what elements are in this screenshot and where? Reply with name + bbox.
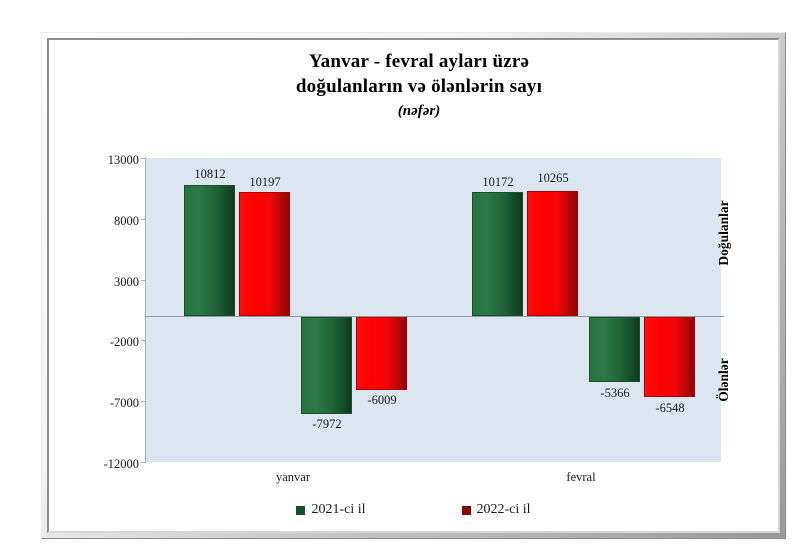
chart-title-line-1: Yanvar - fevral ayları üzrə <box>139 49 699 74</box>
y-tick-label-neg7000: -7000 <box>110 397 139 409</box>
chart-canvas: Yanvar - fevral ayları üzrə doğulanların… <box>49 40 778 531</box>
bar-label-fevral-2021-deaths: -5366 <box>581 386 649 400</box>
side-label-deaths: Ölənlər <box>679 372 769 388</box>
y-tick-13000 <box>141 158 146 159</box>
legend-item-2021[interactable]: 2021-ci il <box>296 502 365 518</box>
y-tick-label-8000: 8000 <box>114 215 139 227</box>
bar-label-fevral-2022-births: 10265 <box>519 171 587 185</box>
y-tick-label-13000: 13000 <box>108 154 139 166</box>
x-category-label-fevral: fevral <box>533 470 629 485</box>
y-axis-labels: 13000 8000 3000 -2000 -7000 -12000 <box>61 158 139 462</box>
bar-fevral-2021-deaths[interactable] <box>589 317 640 382</box>
y-tick-neg7000 <box>141 401 146 402</box>
bar-label-yanvar-2022-deaths: -6009 <box>348 393 416 407</box>
legend-label-2021: 2021-ci il <box>311 502 365 518</box>
chart-title-block: Yanvar - fevral ayları üzrə doğulanların… <box>139 49 699 122</box>
bar-fevral-2022-births[interactable] <box>527 191 578 316</box>
bar-label-yanvar-2021-deaths: -7972 <box>293 417 361 431</box>
y-tick-label-neg2000: -2000 <box>110 336 139 348</box>
y-tick-3000 <box>141 280 146 281</box>
bar-yanvar-2021-deaths[interactable] <box>301 317 352 414</box>
chart-frame-outer: Yanvar - fevral ayları üzrə doğulanların… <box>41 32 786 539</box>
chart-subtitle: (nəfər) <box>139 100 699 122</box>
legend-swatch-2022-icon <box>462 506 471 515</box>
y-tick-label-neg12000: -12000 <box>104 458 139 470</box>
y-tick-8000 <box>141 219 146 220</box>
chart-screenshot: Yanvar - fevral ayları üzrə doğulanların… <box>0 0 800 553</box>
bar-yanvar-2022-births[interactable] <box>239 192 290 316</box>
y-tick-neg2000 <box>141 340 146 341</box>
legend-item-2022[interactable]: 2022-ci il <box>462 502 531 518</box>
side-label-births: Doğulanlar <box>679 225 769 241</box>
y-tick-neg12000 <box>141 462 146 463</box>
bar-yanvar-2022-deaths[interactable] <box>356 317 407 390</box>
chart-title-line-2: doğulanların və ölənlərin sayı <box>139 74 699 99</box>
plot-area: 10812 10197 -7972 -6009 10172 <box>145 158 721 462</box>
chart-legend: 2021-ci il 2022-ci il <box>49 502 778 518</box>
chart-frame-bevel: Yanvar - fevral ayları üzrə doğulanların… <box>47 38 780 533</box>
bar-fevral-2021-births[interactable] <box>472 192 523 316</box>
bar-label-fevral-2022-deaths: -6548 <box>636 401 704 415</box>
y-tick-label-3000: 3000 <box>114 276 139 288</box>
legend-swatch-2021-icon <box>296 506 305 515</box>
x-category-label-yanvar: yanvar <box>245 470 341 485</box>
legend-label-2022: 2022-ci il <box>477 502 531 518</box>
bar-yanvar-2021-births[interactable] <box>184 185 235 317</box>
bar-label-yanvar-2022-births: 10197 <box>231 175 299 189</box>
